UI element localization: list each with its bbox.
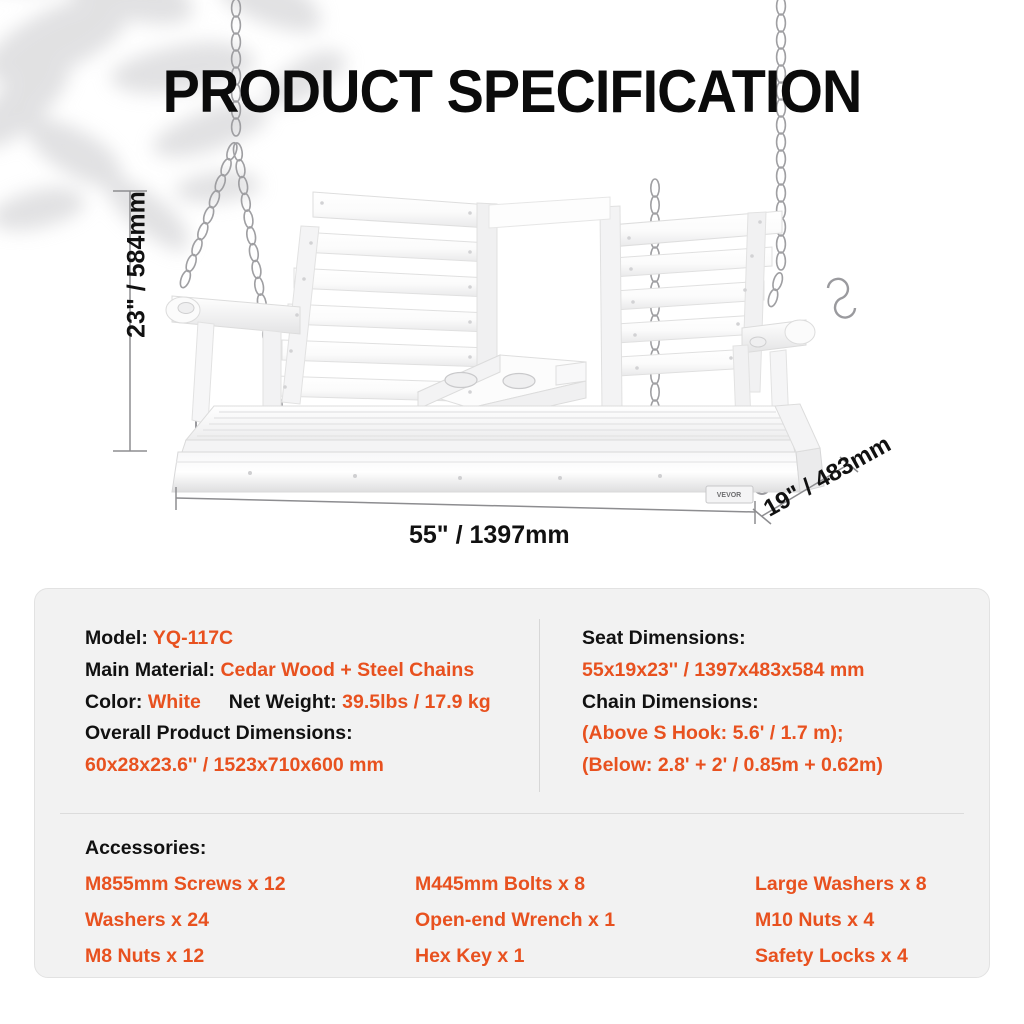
- spec-row-chain-below: (Below: 2.8' + 2' / 0.85m + 0.62m): [582, 750, 982, 782]
- svg-text:VEVOR: VEVOR: [717, 492, 742, 499]
- spec-label-seat: Seat Dimensions:: [582, 627, 746, 649]
- spec-row-chain-label: Chain Dimensions:: [582, 687, 982, 719]
- accessory-item: Safety Locks x 4: [755, 945, 959, 968]
- accessory-item: Hex Key x 1: [415, 945, 755, 968]
- accessory-item: Open-end Wrench x 1: [415, 909, 755, 932]
- column-divider: [539, 619, 540, 792]
- accessory-item: Washers x 24: [85, 909, 415, 932]
- spec-label-model: Model:: [85, 627, 148, 649]
- spec-row-seat-label: Seat Dimensions:: [582, 623, 982, 655]
- specification-top-section: Model: YQ-117C Main Material: Cedar Wood…: [35, 589, 989, 813]
- spec-value-chain-below: (Below: 2.8' + 2' / 0.85m + 0.62m): [582, 754, 883, 776]
- accessory-item: M445mm Bolts x 8: [415, 873, 755, 896]
- spec-value-seat: 55x19x23'' / 1397x483x584 mm: [582, 659, 865, 681]
- spec-label-weight: Net Weight:: [229, 691, 337, 713]
- page-title: PRODUCT SPECIFICATION: [36, 62, 988, 122]
- spec-label-color: Color:: [85, 691, 142, 713]
- spec-label-material: Main Material:: [85, 659, 215, 681]
- spec-row-color-weight: Color: White Net Weight: 39.5lbs / 17.9 …: [85, 687, 555, 719]
- spec-value-color: White: [148, 691, 201, 713]
- spec-value-weight: 39.5lbs / 17.9 kg: [342, 691, 491, 713]
- spec-row-chain-above: (Above S Hook: 5.6' / 1.7 m);: [582, 718, 982, 750]
- spec-row-seat-value: 55x19x23'' / 1397x483x584 mm: [582, 655, 982, 687]
- accessory-item: Large Washers x 8: [755, 873, 959, 896]
- spec-row-material: Main Material: Cedar Wood + Steel Chains: [85, 655, 555, 687]
- accessories-grid: M855mm Screws x 12 M445mm Bolts x 8 Larg…: [85, 873, 959, 968]
- dimension-label-width: 55" / 1397mm: [409, 521, 570, 550]
- accessory-item: M855mm Screws x 12: [85, 873, 415, 896]
- dimension-label-height: 23" / 584mm: [123, 190, 152, 340]
- section-divider: [60, 813, 964, 814]
- accessory-item: M8 Nuts x 12: [85, 945, 415, 968]
- accessory-item: M10 Nuts x 4: [755, 909, 959, 932]
- spec-value-chain-above: (Above S Hook: 5.6' / 1.7 m);: [582, 722, 843, 744]
- spec-column-left: Model: YQ-117C Main Material: Cedar Wood…: [85, 623, 555, 782]
- spec-value-model: YQ-117C: [153, 627, 233, 649]
- spec-column-right: Seat Dimensions: 55x19x23'' / 1397x483x5…: [582, 623, 982, 782]
- spec-value-overall: 60x28x23.6'' / 1523x710x600 mm: [85, 754, 384, 776]
- accessories-section: Accessories: M855mm Screws x 12 M445mm B…: [85, 837, 959, 968]
- spec-row-model: Model: YQ-117C: [85, 623, 555, 655]
- spec-label-overall: Overall Product Dimensions:: [85, 722, 353, 744]
- spec-label-chain: Chain Dimensions:: [582, 691, 759, 713]
- specification-panel: Model: YQ-117C Main Material: Cedar Wood…: [34, 588, 990, 978]
- spec-row-overall-label: Overall Product Dimensions:: [85, 718, 555, 750]
- accessories-title: Accessories:: [85, 837, 959, 860]
- spec-value-material: Cedar Wood + Steel Chains: [220, 659, 474, 681]
- spec-row-overall-value: 60x28x23.6'' / 1523x710x600 mm: [85, 750, 555, 782]
